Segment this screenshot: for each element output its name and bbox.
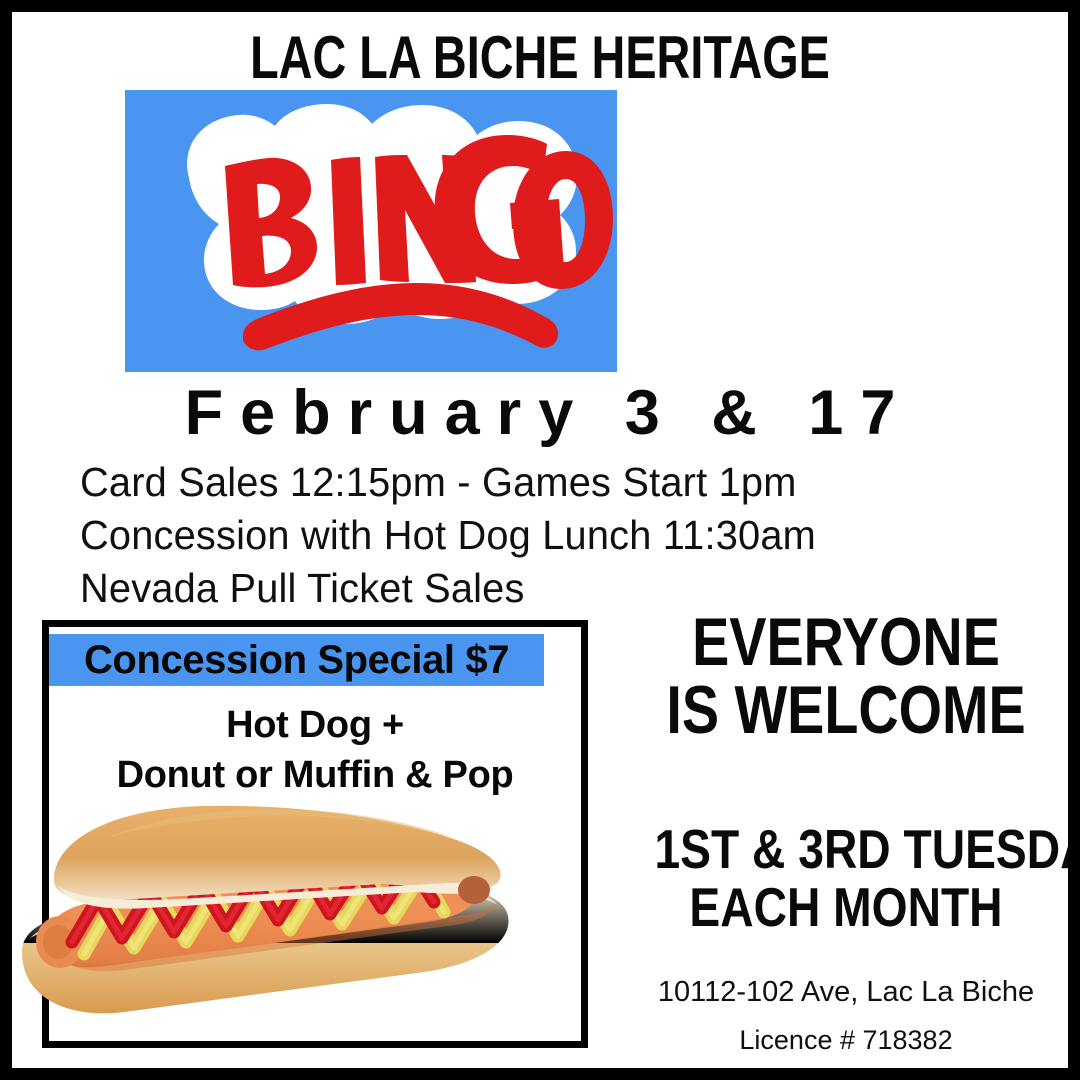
info-line-concession: Concession with Hot Dog Lunch 11:30am [80, 509, 953, 562]
bingo-wordmark-icon [125, 90, 617, 372]
licence-number: Licence # 718382 [618, 1024, 1068, 1056]
schedule-line-2: EACH MONTH [654, 878, 1037, 936]
welcome-line-2: IS WELCOME [664, 676, 1028, 744]
event-date: February 3 & 17 [12, 378, 1068, 448]
hot-dog-icon [14, 802, 534, 1032]
concession-item-line-1: Hot Dog + [42, 704, 588, 747]
info-line-card-sales: Card Sales 12:15pm - Games Start 1pm [80, 456, 953, 509]
event-info-list: Card Sales 12:15pm - Games Start 1pm Con… [80, 456, 980, 615]
concession-item-line-2: Donut or Muffin & Pop [42, 754, 588, 797]
schedule-heading: 1ST & 3RD TUESDAY EACH MONTH [654, 820, 1037, 936]
venue-address: 10112-102 Ave, Lac La Biche [618, 975, 1068, 1009]
poster-sheet: LAC LA BICHE HERITAGE [12, 12, 1068, 1068]
bingo-logo-panel [125, 90, 617, 372]
poster-root: LAC LA BICHE HERITAGE [0, 0, 1080, 1080]
hot-dog-photo [14, 802, 534, 1032]
welcome-heading: EVERYONE IS WELCOME [664, 608, 1028, 744]
schedule-line-1: 1ST & 3RD TUESDAY [654, 820, 1037, 878]
page-title: LAC LA BICHE HERITAGE [128, 28, 952, 88]
concession-headline: Concession Special $7 [49, 632, 544, 688]
welcome-line-1: EVERYONE [664, 608, 1028, 676]
